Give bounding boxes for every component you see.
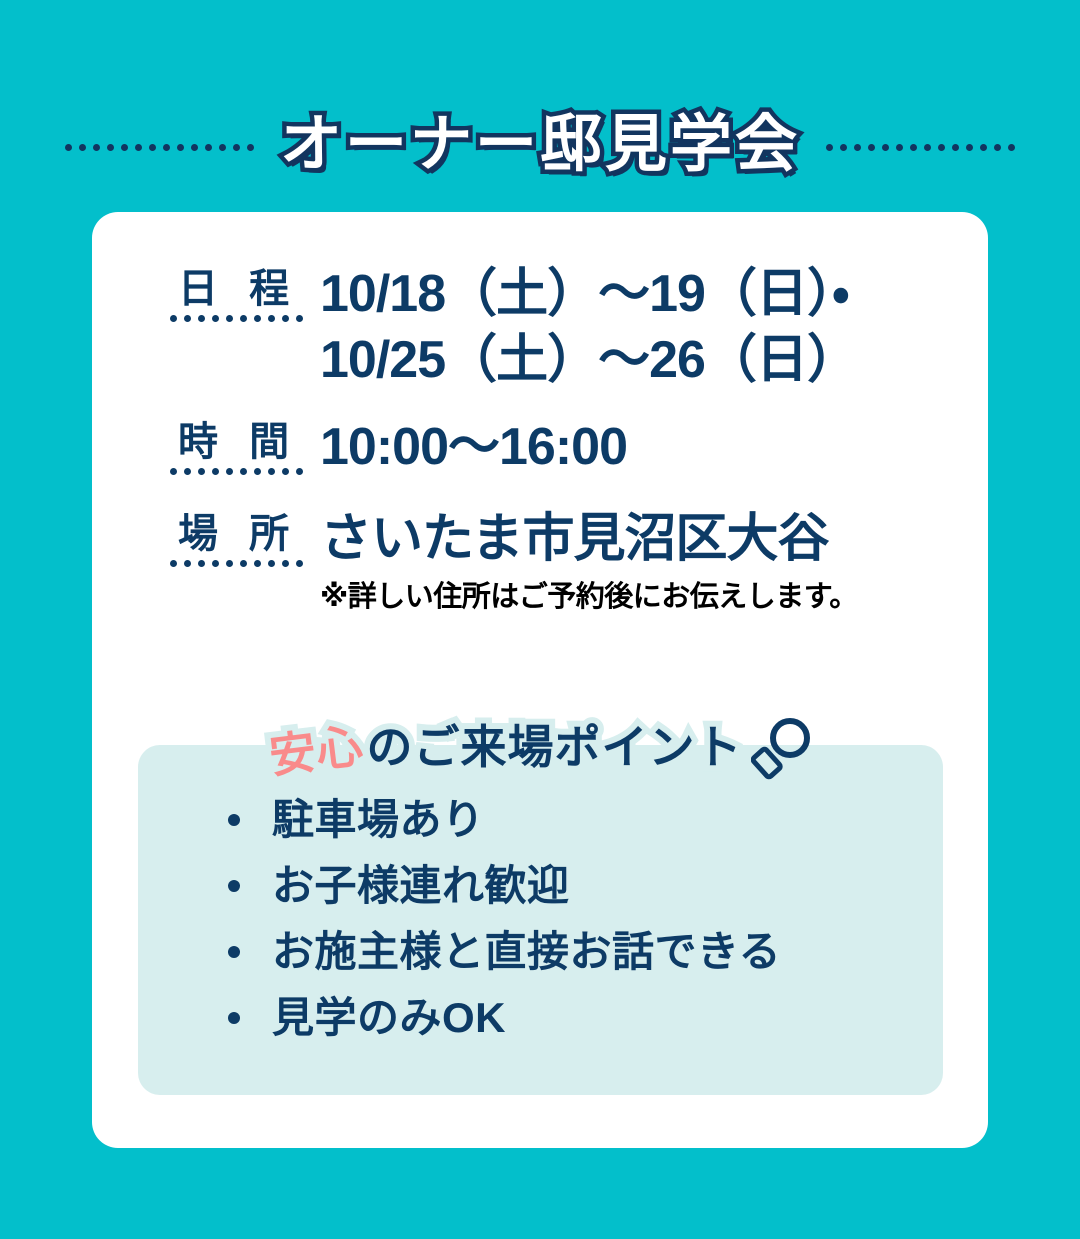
- info-value-place: さいたま市見沼区大谷 ※詳しい住所はご予約後にお伝えします。: [304, 507, 968, 618]
- bullet-icon: [228, 1012, 240, 1024]
- list-item-label: お施主様と直接お話できる: [272, 931, 781, 973]
- list-item: 駐車場あり: [138, 787, 943, 853]
- info-value-place-line-1: さいたま市見沼区大谷: [320, 507, 968, 573]
- bullet-icon: [228, 880, 240, 892]
- list-item-label: 駐車場あり: [272, 799, 485, 841]
- list-item-label: 見学のみOK: [272, 997, 506, 1039]
- list-item-label: お子様連れ歓迎: [272, 865, 570, 907]
- label-underline-dots-icon: [168, 468, 304, 475]
- info-label-date: 日 程: [168, 262, 304, 322]
- list-item: 見学のみOK: [138, 985, 943, 1051]
- info-row-place: 場 所 さいたま市見沼区大谷 ※詳しい住所はご予約後にお伝えします。: [168, 507, 968, 618]
- points-heading-accent: 安心: [267, 722, 366, 779]
- points-list: 駐車場あり お子様連れ歓迎 お施主様と直接お話できる 見学のみOK: [138, 787, 943, 1051]
- magnifier-icon: [751, 714, 813, 785]
- info-value-time: 10:00〜16:00: [304, 415, 968, 481]
- info-list: 日 程 10/18（土）〜19（日）・ 10/25（土）〜26（日） 時 間: [168, 262, 968, 617]
- info-label-time-text: 時 間: [168, 421, 304, 463]
- info-card: 日 程 10/18（土）〜19（日）・ 10/25（土）〜26（日） 時 間: [92, 212, 988, 1148]
- info-value-date: 10/18（土）〜19（日）・ 10/25（土）〜26（日）: [304, 262, 968, 393]
- label-underline-dots-icon: [168, 315, 304, 322]
- title-band: オーナー邸見学会: [0, 95, 1080, 195]
- info-row-time: 時 間 10:00〜16:00: [168, 415, 968, 481]
- points-heading-rest: のご来場ポイント: [367, 724, 743, 770]
- info-label-time: 時 間: [168, 415, 304, 475]
- info-value-place-note: ※詳しい住所はご予約後にお伝えします。: [320, 578, 968, 617]
- info-label-place: 場 所: [168, 507, 304, 567]
- dotted-rule-right-icon: [826, 144, 1015, 151]
- info-label-date-text: 日 程: [168, 268, 304, 310]
- points-heading: 安心 のご来場ポイント: [138, 707, 943, 787]
- info-value-time-line-1: 10:00〜16:00: [320, 415, 968, 481]
- list-item: お子様連れ歓迎: [138, 853, 943, 919]
- label-underline-dots-icon: [168, 560, 304, 567]
- bullet-icon: [228, 946, 240, 958]
- info-label-place-text: 場 所: [168, 513, 304, 555]
- info-value-date-line-1: 10/18（土）〜19（日）・: [320, 262, 968, 328]
- info-value-date-line-2: 10/25（土）〜26（日）: [320, 328, 968, 394]
- info-row-date: 日 程 10/18（土）〜19（日）・ 10/25（土）〜26（日）: [168, 262, 968, 393]
- page-title: オーナー邸見学会: [280, 114, 800, 176]
- list-item: お施主様と直接お話できる: [138, 919, 943, 985]
- bullet-icon: [228, 814, 240, 826]
- dotted-rule-left-icon: [65, 144, 254, 151]
